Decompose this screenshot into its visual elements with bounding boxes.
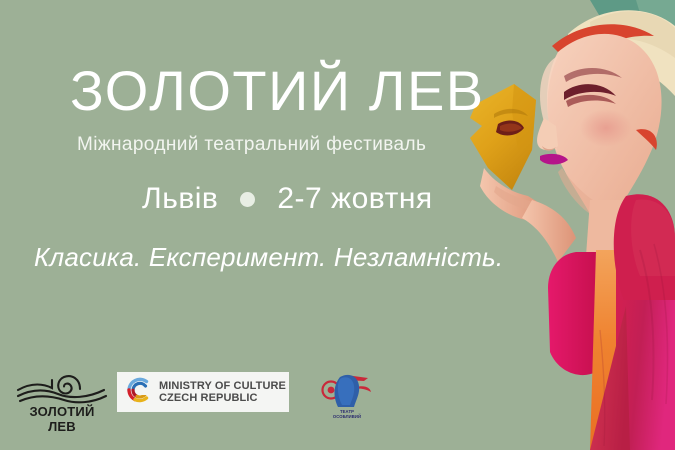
sponsor-logos: ЗОЛОТИЙ ЛЕВ	[0, 364, 675, 450]
logo-third-partner-label: ТЕАТР ОСОБЛИВИЙ	[316, 409, 378, 419]
face	[547, 34, 662, 214]
logo-third-partner: ТЕАТР ОСОБЛИВИЙ	[316, 367, 378, 423]
forearm	[522, 200, 576, 262]
page-title: ЗОЛОТИЙ ЛЕВ	[70, 62, 485, 121]
place-and-date: Львів 2-7 жовтня	[142, 182, 433, 216]
headpiece-teal	[590, 0, 675, 78]
czech-line-2: CZECH REPUBLIC	[159, 392, 286, 405]
separator-dot-icon	[240, 192, 255, 207]
hair-band-red	[552, 24, 654, 68]
nose	[537, 118, 558, 150]
festival-poster: ЗОЛОТИЙ ЛЕВ Міжнародний театральний фест…	[0, 0, 675, 450]
ear-accent	[636, 129, 657, 150]
drape-magenta	[548, 252, 596, 375]
mask-eye	[496, 121, 524, 136]
logo-golden-lion: ЗОЛОТИЙ ЛЕВ	[14, 370, 110, 426]
eye-closed	[564, 84, 616, 100]
city-label: Львів	[142, 182, 218, 216]
czech-line-1: MINISTRY OF CULTURE	[159, 380, 286, 393]
logo-golden-lion-label: ЗОЛОТИЙ ЛЕВ	[14, 404, 110, 434]
dates-label: 2-7 жовтня	[277, 182, 432, 216]
face-profile-icon	[316, 367, 378, 413]
shoulder-magenta	[614, 194, 675, 300]
third-line-2: ОСОБЛИВИЙ	[316, 414, 378, 419]
festival-subtitle: Міжнародний театральний фестиваль	[77, 134, 426, 156]
hat-cream	[568, 10, 675, 96]
lips	[540, 154, 568, 165]
spiral-wave-mark	[14, 370, 110, 406]
c-swirl-icon	[123, 375, 153, 410]
festival-tagline: Класика. Експеримент. Незламність.	[34, 242, 503, 273]
neck	[586, 200, 640, 256]
hand	[480, 168, 544, 220]
cheek-blush	[580, 109, 632, 147]
logo-czech-ministry: MINISTRY OF CULTURE CZECH REPUBLIC	[117, 372, 289, 412]
logo-czech-ministry-label: MINISTRY OF CULTURE CZECH REPUBLIC	[159, 380, 286, 405]
